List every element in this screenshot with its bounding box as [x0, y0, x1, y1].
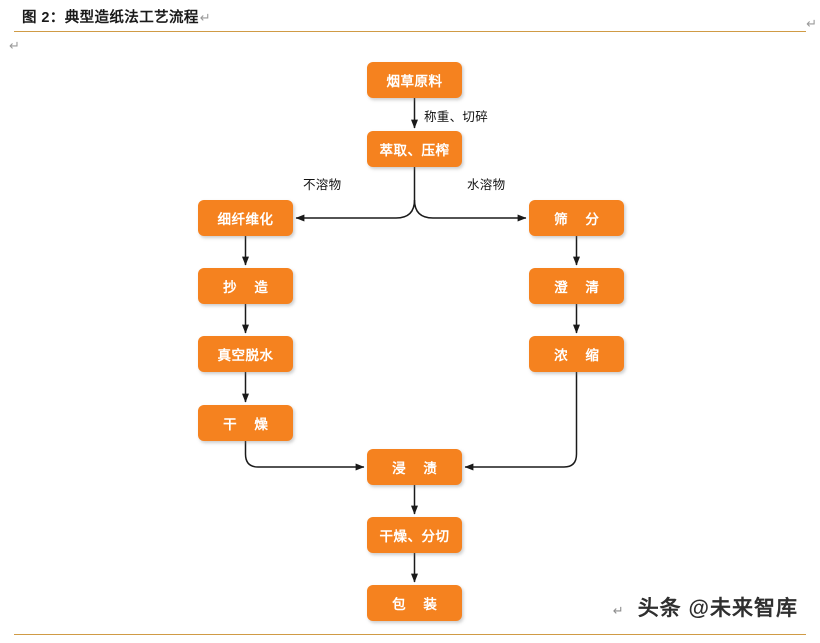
- node-drying[interactable]: 干 燥: [198, 405, 293, 441]
- header-divider: [14, 31, 806, 32]
- node-label: 干 燥: [216, 413, 275, 433]
- node-drying-slitting[interactable]: 干燥、分切: [367, 517, 462, 553]
- node-screening[interactable]: 筛 分: [529, 200, 624, 236]
- node-concentration[interactable]: 浓 缩: [529, 336, 624, 372]
- edge-label-insoluble: 不溶物: [303, 174, 341, 193]
- watermark-paragraph-mark-icon: ↵: [613, 603, 624, 619]
- page-title: 图 2：典型造纸法工艺流程↵: [22, 6, 211, 27]
- node-label: 细纤维化: [218, 208, 274, 228]
- node-label: 浸 渍: [385, 457, 444, 477]
- watermark-text: 头条 @未来智库: [638, 592, 798, 622]
- node-vacuum-dewatering[interactable]: 真空脱水: [198, 336, 293, 372]
- node-label: 萃取、压榨: [380, 139, 450, 159]
- node-extraction-pressing[interactable]: 萃取、压榨: [367, 131, 462, 167]
- node-label: 澄 清: [547, 276, 606, 296]
- node-label: 烟草原料: [387, 70, 443, 90]
- edge-extract-to-fibrillate: [296, 200, 415, 218]
- document-header: 图 2：典型造纸法工艺流程↵ ↵: [0, 0, 820, 33]
- node-label: 抄 造: [216, 276, 275, 296]
- edge-extract-to-screen: [415, 200, 527, 218]
- footer-divider: [14, 634, 806, 635]
- edge-label-weigh-cut: 称重、切碎: [424, 106, 488, 125]
- node-papermaking[interactable]: 抄 造: [198, 268, 293, 304]
- watermark: ↵ 头条 @未来智库: [613, 592, 798, 622]
- edge-label-water-soluble: 水溶物: [467, 174, 505, 193]
- process-flowchart: 烟草原料 萃取、压榨 细纤维化 筛 分 抄 造 澄 清 真空脱水 浓 缩 干 燥…: [0, 40, 820, 620]
- paragraph-mark-icon: ↵: [199, 10, 211, 25]
- node-label: 真空脱水: [218, 344, 274, 364]
- node-fibrillation[interactable]: 细纤维化: [198, 200, 293, 236]
- node-label: 包 装: [385, 593, 444, 613]
- node-label: 筛 分: [547, 208, 606, 228]
- node-label: 干燥、分切: [380, 525, 450, 545]
- node-label: 浓 缩: [547, 344, 606, 364]
- node-impregnation[interactable]: 浸 渍: [367, 449, 462, 485]
- edge-dry-to-impregnate: [246, 441, 365, 467]
- node-packaging[interactable]: 包 装: [367, 585, 462, 621]
- node-raw-material[interactable]: 烟草原料: [367, 62, 462, 98]
- node-clarification[interactable]: 澄 清: [529, 268, 624, 304]
- edge-concentrate-to-impregnate: [465, 372, 577, 467]
- header-end-paragraph-mark-icon: ↵: [806, 16, 817, 32]
- figure-title-text: 图 2：典型造纸法工艺流程: [22, 10, 199, 26]
